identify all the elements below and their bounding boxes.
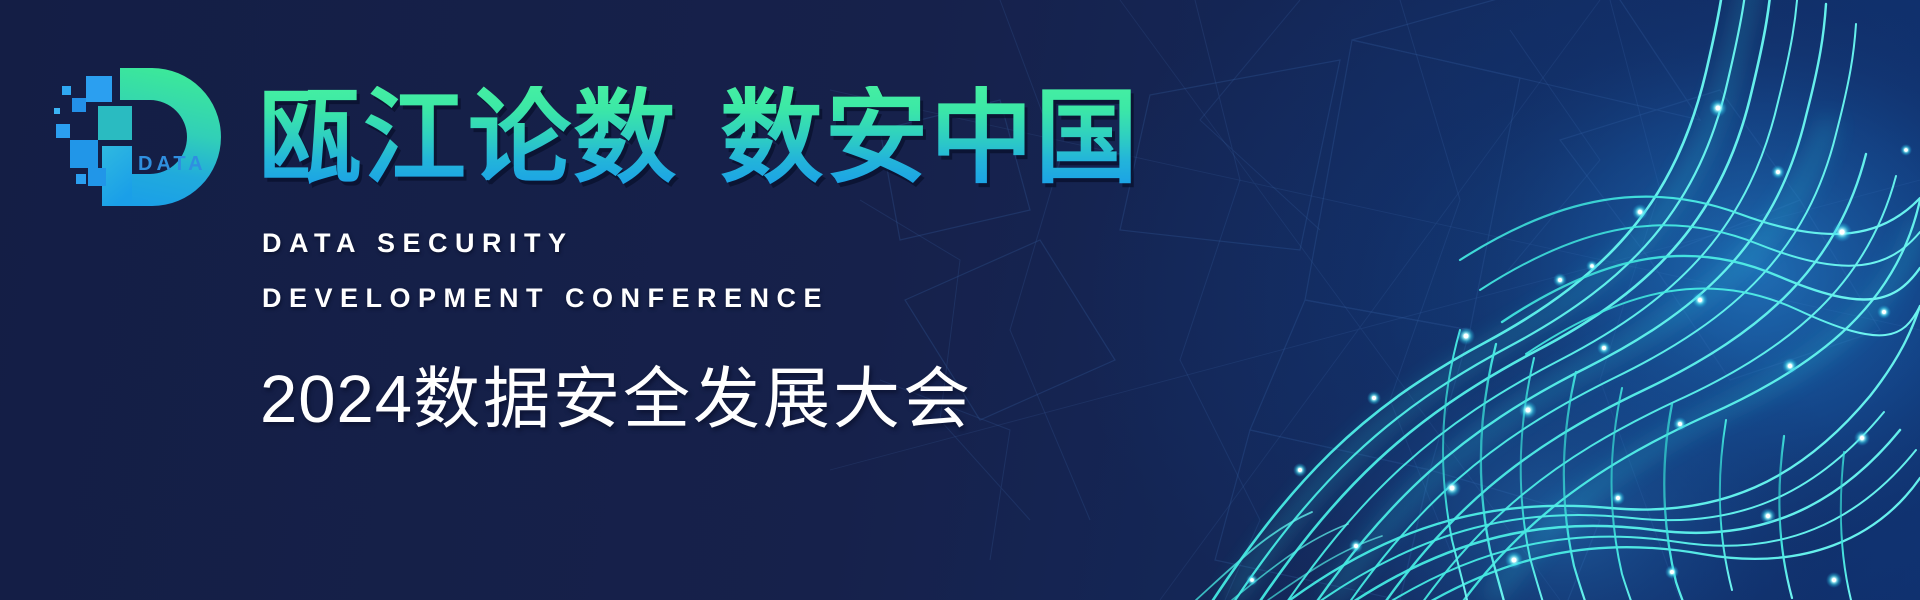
headline-part-one: 瓯江论数 (258, 80, 678, 195)
headline-part-two: 数安中国 (720, 80, 1140, 195)
headline-title: 瓯江论数数安中国 (258, 86, 1140, 189)
data-d-logo-icon: DATA (46, 46, 231, 221)
conference-subtitle-text: 数据安全发展大会 (413, 362, 973, 437)
conference-subtitle: 2024数据安全发展大会 (260, 345, 973, 442)
banner-text-column: 瓯江论数数安中国 DATA SECURITY DEVELOPMENT CONFE… (258, 0, 1238, 600)
conference-year: 2024 (260, 362, 413, 437)
conference-banner: DATA 瓯江论数数安中国 DATA SECURITY DEVELOPMENT … (0, 0, 1920, 600)
english-subtitle-line-2: DEVELOPMENT CONFERENCE (262, 283, 829, 314)
glow-nodes (1246, 99, 1912, 588)
logo-wordmark: DATA (138, 153, 207, 175)
logo: DATA (46, 46, 231, 221)
english-subtitle-line-1: DATA SECURITY (262, 228, 574, 259)
